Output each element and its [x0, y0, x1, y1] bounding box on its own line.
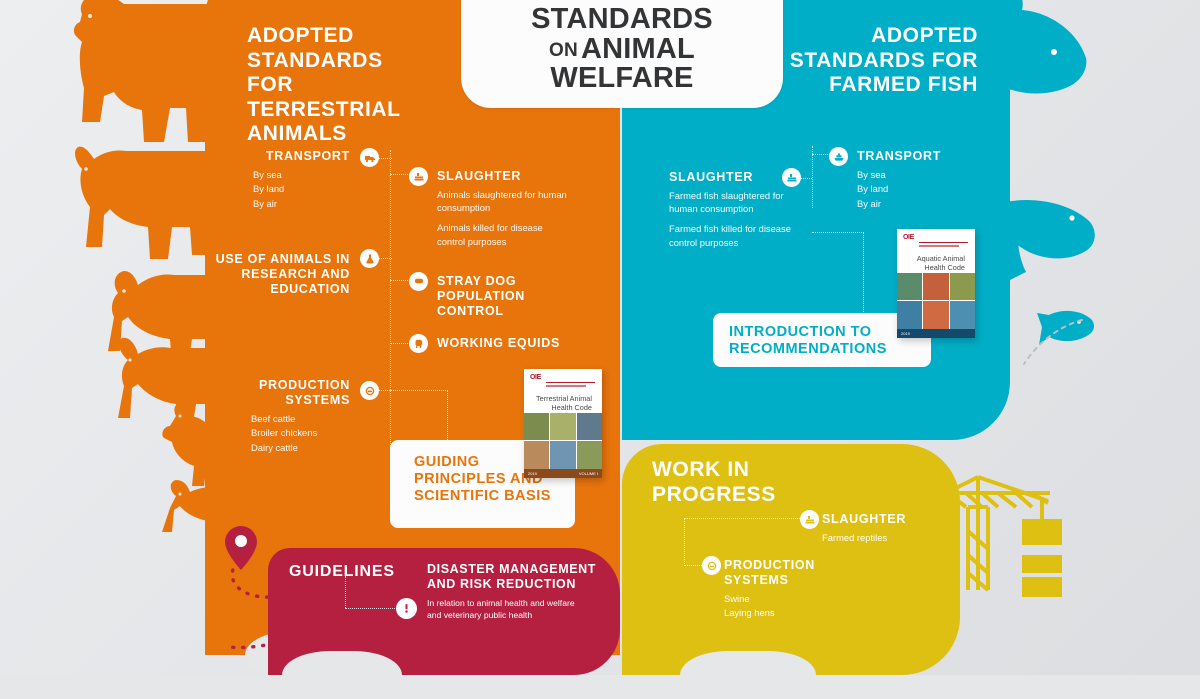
entry-slaughter-wip: SLAUGHTER Farmed reptiles	[822, 512, 962, 544]
book-publisher: OIE	[530, 374, 596, 381]
title-animal-word: ANIMAL	[581, 33, 695, 65]
detail-line: By land	[253, 182, 350, 196]
entry-title: PRODUCTION SYSTEMS	[195, 378, 350, 408]
entry-slaughter-fish: SLAUGHTER Farmed fish slaughtered for hu…	[669, 170, 829, 249]
detail-line: Farmed fish killed for disease control p…	[669, 222, 797, 249]
entry-details: By sea By land By air	[857, 168, 1007, 211]
connector-production-right	[390, 390, 448, 392]
entry-production-wip: PRODUCTION SYSTEMS Swine Laying hens	[724, 558, 874, 620]
entry-title: WORKING EQUIDS	[437, 336, 587, 351]
detail-line: By air	[857, 197, 1007, 211]
pin-trail-dots	[215, 555, 365, 660]
farmed-fish-heading: ADOPTED STANDARDS FOR FARMED FISH	[780, 24, 978, 98]
title-line-3: ONANIMAL	[503, 35, 740, 65]
dog-icon	[409, 272, 428, 291]
entry-title: SLAUGHTER	[437, 169, 597, 184]
detail-line: Beef cattle	[251, 412, 350, 426]
introduction-recommendations-text: INTRODUCTION TO RECOMMENDATIONS	[729, 324, 887, 357]
entry-details: By sea By land By air	[195, 168, 350, 211]
connector-working-equids	[390, 343, 410, 345]
book-year: 2019	[528, 471, 537, 476]
entry-title: STRAY DOG POPULATION CONTROL	[437, 274, 587, 318]
aquatic-animal-health-code-book: OIE Aquatic Animal Health Code 2019	[897, 229, 975, 338]
book-photo-grid	[524, 413, 602, 470]
detail-line: Farmed reptiles	[822, 531, 962, 545]
entry-title: PRODUCTION SYSTEMS	[724, 558, 874, 588]
connector-vertical-orange	[390, 150, 392, 450]
connector-yellow-production	[684, 565, 702, 567]
entry-details: Farmed fish slaughtered for human consum…	[669, 189, 829, 250]
book-title-line-1: Aquatic Animal	[917, 254, 965, 263]
detail-line: Animals killed for disease control purpo…	[437, 221, 572, 248]
work-in-progress-heading-text: WORK IN PROGRESS	[652, 458, 776, 506]
guidelines-subtitle-line-1: In relation to animal health and welfare	[427, 598, 575, 608]
entry-transport-fish: TRANSPORT By sea By land By air	[857, 149, 1007, 211]
detail-line: Farmed fish slaughtered for human consum…	[669, 189, 794, 216]
book-year: 2019	[901, 331, 910, 336]
connector-teal-transport	[812, 154, 830, 156]
entry-production-terrestrial: PRODUCTION SYSTEMS Beef cattle Broiler c…	[195, 378, 350, 454]
guidelines-title: DISASTER MANAGEMENT AND RISK REDUCTION	[427, 562, 607, 592]
panel-notch	[680, 651, 816, 699]
detail-line: Dairy cattle	[251, 441, 350, 455]
detail-line: By sea	[857, 168, 1007, 182]
entry-title: SLAUGHTER	[669, 170, 829, 185]
entry-details: Animals slaughtered for human consumptio…	[437, 188, 597, 249]
detail-line: By land	[857, 182, 1007, 196]
connector-guiding	[447, 390, 449, 446]
entry-title: USE OF ANIMALS IN RESEARCH AND EDUCATION	[195, 252, 350, 296]
slaughter-icon	[800, 510, 819, 529]
terrestrial-heading-text: ADOPTED STANDARDS FOR TERRESTRIAL ANIMAL…	[247, 24, 417, 147]
guidelines-subtitle: In relation to animal health and welfare…	[427, 597, 607, 621]
exclamation-icon	[396, 598, 417, 619]
entry-details: Beef cattle Broiler chickens Dairy cattl…	[195, 412, 350, 455]
slaughter-icon	[782, 168, 801, 187]
transport-truck-icon	[360, 148, 379, 167]
entry-details: Swine Laying hens	[724, 592, 874, 620]
production-systems-icon	[360, 381, 379, 400]
transport-boat-icon	[829, 147, 848, 166]
book-publisher: OIE	[903, 234, 969, 241]
book-photo-grid	[897, 273, 975, 330]
entry-research-terrestrial: USE OF ANIMALS IN RESEARCH AND EDUCATION	[195, 252, 350, 296]
fish-silhouette-small	[1035, 305, 1101, 349]
detail-line: Broiler chickens	[251, 426, 350, 440]
connector-yellow-slaughter	[684, 518, 800, 520]
book-title-line-1: Terrestrial Animal	[536, 394, 592, 403]
farmed-fish-heading-text: ADOPTED STANDARDS FOR FARMED FISH	[780, 24, 978, 98]
detail-line: By sea	[253, 168, 350, 182]
slaughter-icon	[409, 167, 428, 186]
entry-slaughter-terrestrial: SLAUGHTER Animals slaughtered for human …	[437, 169, 597, 248]
book-volume: VOLUME I	[579, 471, 598, 476]
terrestrial-heading: ADOPTED STANDARDS FOR TERRESTRIAL ANIMAL…	[247, 24, 417, 147]
book-title-line-2: Health Code	[551, 403, 592, 412]
entry-working-equids-terrestrial: WORKING EQUIDS	[437, 336, 587, 351]
title-on-word: ON	[549, 40, 578, 61]
entry-title: TRANSPORT	[857, 149, 1007, 164]
connector-vertical-yellow	[684, 518, 686, 566]
connector-teal-intro-drop	[863, 232, 865, 314]
entry-stray-dog-terrestrial: STRAY DOG POPULATION CONTROL	[437, 274, 587, 318]
guidelines-body: DISASTER MANAGEMENT AND RISK REDUCTION I…	[427, 562, 607, 621]
production-systems-icon	[702, 556, 721, 575]
connector-slaughter	[390, 174, 410, 176]
entry-title: SLAUGHTER	[822, 512, 962, 527]
work-in-progress-heading: WORK IN PROGRESS	[652, 458, 802, 507]
research-flask-icon	[360, 249, 379, 268]
title-line-4: WELFARE	[503, 64, 740, 94]
horse-icon	[409, 334, 428, 353]
detail-line: Animals slaughtered for human consumptio…	[437, 188, 567, 215]
main-title-card: INTERNATIONAL STANDARDS ONANIMAL WELFARE	[461, 0, 783, 108]
detail-line: Swine	[724, 592, 874, 606]
book-title-line-2: Health Code	[924, 263, 965, 272]
detail-line: Laying hens	[724, 606, 874, 620]
horse-silhouette	[58, 0, 228, 152]
fish-trail-dashes	[1020, 318, 1090, 370]
terrestrial-animal-health-code-book: OIE Terrestrial Animal Health Code 2019 …	[524, 369, 602, 478]
connector-stray-dog	[390, 280, 410, 282]
entry-details: Farmed reptiles	[822, 531, 962, 545]
entry-title: TRANSPORT	[195, 149, 350, 164]
title-line-2: STANDARDS	[503, 5, 740, 35]
detail-line: By air	[253, 197, 350, 211]
entry-transport-terrestrial: TRANSPORT By sea By land By air	[195, 149, 350, 211]
guidelines-subtitle-line-2: and veterinary public health	[427, 610, 532, 620]
infographic-canvas: INTERNATIONAL STANDARDS ONANIMAL WELFARE…	[0, 0, 1200, 675]
